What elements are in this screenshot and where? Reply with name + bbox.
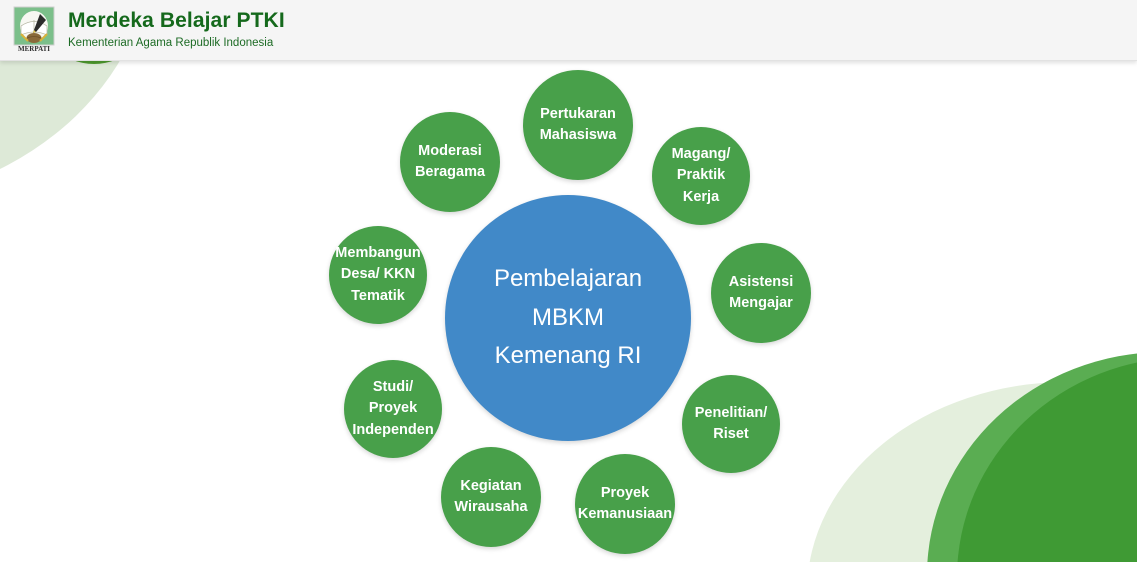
spoke-node-kegiatan-wirausaha-label: KegiatanWirausaha [448,476,533,518]
spoke-node-magang-praktik-kerja-label: Magang/Praktik Kerja [652,144,750,207]
center-node-pembelajaran-mbkm[interactable]: PembelajaranMBKMKemenang RI [445,195,691,441]
spoke-node-membangun-desa-kkn-label: MembangunDesa/ KKNTematik [329,243,426,306]
spoke-node-pertukaran-mahasiswa[interactable]: PertukaranMahasiswa [523,70,633,180]
svg-text:MERPATI: MERPATI [18,45,50,53]
mbkm-hub-and-spoke-diagram: PembelajaranMBKMKemenang RIPertukaranMah… [0,0,1137,562]
page-subtitle: Kementerian Agama Republik Indonesia [68,36,285,51]
spoke-node-moderasi-beragama-label: ModerasiBeragama [409,141,491,183]
spoke-node-membangun-desa-kkn[interactable]: MembangunDesa/ KKNTematik [329,226,427,324]
page-title: Merdeka Belajar PTKI [68,9,285,33]
spoke-node-moderasi-beragama[interactable]: ModerasiBeragama [400,112,500,212]
spoke-node-penelitian-riset[interactable]: Penelitian/Riset [682,375,780,473]
site-header: MERPATI Merdeka Belajar PTKI Kementerian… [0,0,1137,61]
spoke-node-pertukaran-mahasiswa-label: PertukaranMahasiswa [534,104,623,146]
spoke-node-magang-praktik-kerja[interactable]: Magang/Praktik Kerja [652,127,750,225]
spoke-node-penelitian-riset-label: Penelitian/Riset [689,403,774,445]
brand-titles: Merdeka Belajar PTKI Kementerian Agama R… [68,9,285,50]
spoke-node-asistensi-mengajar-label: AsistensiMengajar [723,272,799,314]
spoke-node-studi-proyek-independen-label: Studi/ ProyekIndependen [344,377,442,440]
center-node-pembelajaran-mbkm-label: PembelajaranMBKMKemenang RI [488,260,648,375]
page-root: program merdeka belajar kampus merdeka p… [0,0,1137,562]
spoke-node-proyek-kemanusiaan-label: ProyekKemanusiaan [572,483,678,525]
merpati-logo-icon: MERPATI [12,6,56,54]
spoke-node-studi-proyek-independen[interactable]: Studi/ ProyekIndependen [344,360,442,458]
spoke-node-proyek-kemanusiaan[interactable]: ProyekKemanusiaan [575,454,675,554]
spoke-node-kegiatan-wirausaha[interactable]: KegiatanWirausaha [441,447,541,547]
spoke-node-asistensi-mengajar[interactable]: AsistensiMengajar [711,243,811,343]
